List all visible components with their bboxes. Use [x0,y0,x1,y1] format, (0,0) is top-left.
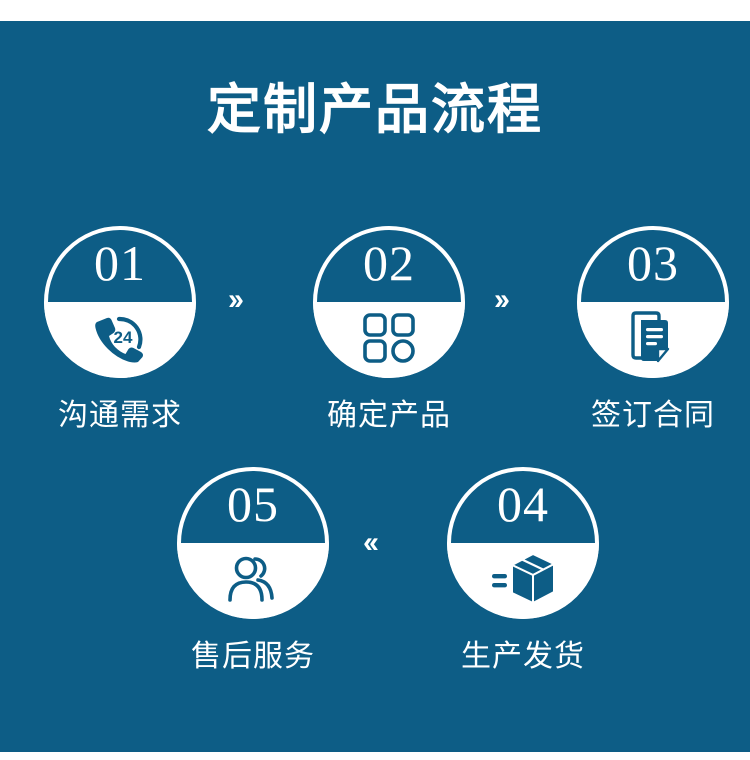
chevron-right-double-icon-1: ›› [228,285,240,315]
flow-step-02-circle: 02 [313,226,465,378]
customization-process-poster: 定制产品流程 01 24 沟通需求 ›› [0,0,750,760]
phone-24h-support-icon: 24 [44,302,196,378]
shipping-box-icon [447,543,599,619]
flow-step-03-number: 03 [577,226,729,302]
flow-step-05-circle: 05 [177,467,329,619]
flow-step-01-label: 沟通需求 [20,390,220,434]
page-title: 定制产品流程 [0,82,750,139]
svg-text:24: 24 [114,328,133,347]
contract-document-icon [577,302,729,378]
flow-step-04[interactable]: 04 生产 [443,467,603,619]
flow-step-03-label: 签订合同 [553,390,750,434]
flow-step-01[interactable]: 01 24 沟通需求 [40,226,200,378]
flow-step-03[interactable]: 03 签订合同 [573,226,733,378]
flow-step-05-label: 售后服务 [153,631,353,675]
grid-products-icon [313,302,465,378]
flow-step-02[interactable]: 02 确定产品 [309,226,469,378]
flow-step-04-circle: 04 [447,467,599,619]
flow-step-05[interactable]: 05 售后服务 [173,467,333,619]
flow-step-03-circle: 03 [577,226,729,378]
chevron-left-double-icon: ‹‹ [363,528,375,558]
flow-step-04-number: 04 [447,467,599,543]
customer-service-people-icon [177,543,329,619]
flow-step-02-number: 02 [313,226,465,302]
flow-step-05-number: 05 [177,467,329,543]
flow-step-01-number: 01 [44,226,196,302]
flow-step-02-label: 确定产品 [289,390,489,434]
flow-step-04-label: 生产发货 [423,631,623,675]
chevron-right-double-icon-2: ›› [494,285,506,315]
flow-step-01-circle: 01 24 [44,226,196,378]
